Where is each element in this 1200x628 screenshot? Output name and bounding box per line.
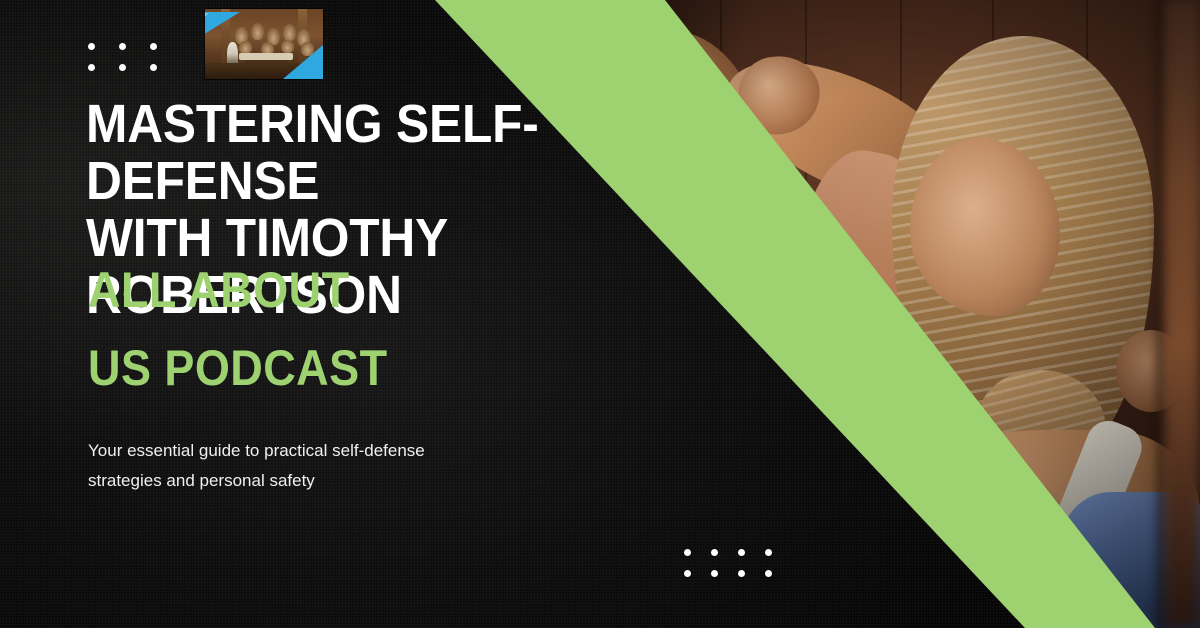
decorative-dot-grid-bottom [684,549,772,577]
logo-table [239,53,293,60]
podcast-name-line-2: US PODCAST [88,342,388,394]
dot [119,43,126,50]
dot [765,549,772,556]
photo-right-blur-strip [1164,0,1200,628]
dot [119,64,126,71]
dot [684,570,691,577]
podcast-cover-poster: ALL ABOUT US MASTERING SELF-DEFENSE WITH… [0,0,1200,628]
dot [738,570,745,577]
decorative-dot-grid-top [88,43,157,71]
page-subtitle: Your essential guide to practical self-d… [88,436,428,496]
dot [738,549,745,556]
dot [711,549,718,556]
dot [684,549,691,556]
dot [150,64,157,71]
dot [88,43,95,50]
dot [88,64,95,71]
content-layer: ALL ABOUT US MASTERING SELF-DEFENSE WITH… [0,0,700,628]
dot [711,570,718,577]
podcast-name-line-1: ALL ABOUT [88,264,350,316]
dot [150,43,157,50]
dot [765,570,772,577]
podcast-logo-thumbnail[interactable]: ALL ABOUT US [205,9,323,79]
